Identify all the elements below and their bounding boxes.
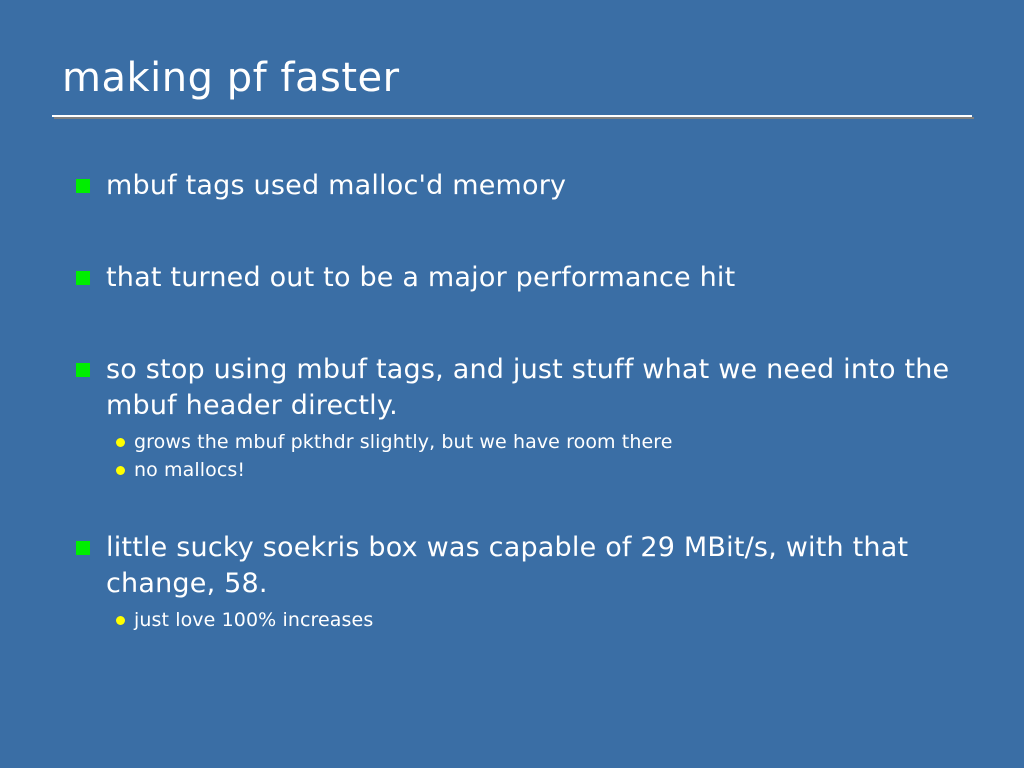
bullet-group: so stop using mbuf tags, and just stuff … (70, 352, 970, 484)
title-divider-rule (52, 115, 972, 119)
bullet-item-level1: mbuf tags used malloc'd memory (70, 168, 970, 204)
sub-bullet-text: just love 100% increases (134, 609, 373, 631)
bullet-item-level2: grows the mbuf pkthdr slightly, but we h… (114, 428, 970, 456)
bullet-item-level1: so stop using mbuf tags, and just stuff … (70, 352, 970, 424)
bullet-item-level2: no mallocs! (114, 456, 970, 484)
sub-bullet-text: no mallocs! (134, 459, 245, 481)
slide-title-block: making pf faster (52, 52, 972, 104)
bullet-text: that turned out to be a major performanc… (106, 262, 735, 293)
bullet-text: little sucky soekris box was capable of … (106, 532, 908, 599)
sub-bullet-list: just love 100% increases (70, 606, 970, 634)
green-square-bullet-icon (76, 271, 90, 285)
bullet-item-level1: that turned out to be a major performanc… (70, 260, 970, 296)
presentation-slide: making pf faster mbuf tags used malloc'd… (0, 0, 1024, 768)
bullet-text: mbuf tags used malloc'd memory (106, 170, 566, 201)
yellow-dot-bullet-icon (116, 466, 125, 475)
green-square-bullet-icon (76, 541, 90, 555)
title-divider-shadow (54, 117, 974, 119)
bullet-group: that turned out to be a major performanc… (70, 260, 970, 296)
yellow-dot-bullet-icon (116, 438, 125, 447)
sub-bullet-text: grows the mbuf pkthdr slightly, but we h… (134, 431, 673, 453)
green-square-bullet-icon (76, 363, 90, 377)
slide-body: mbuf tags used malloc'd memory that turn… (70, 168, 970, 634)
bullet-item-level1: little sucky soekris box was capable of … (70, 530, 970, 602)
bullet-group: mbuf tags used malloc'd memory (70, 168, 970, 204)
green-square-bullet-icon (76, 179, 90, 193)
slide-title: making pf faster (52, 52, 972, 104)
bullet-group: little sucky soekris box was capable of … (70, 530, 970, 634)
yellow-dot-bullet-icon (116, 616, 125, 625)
bullet-text: so stop using mbuf tags, and just stuff … (106, 354, 949, 421)
sub-bullet-list: grows the mbuf pkthdr slightly, but we h… (70, 428, 970, 484)
bullet-item-level2: just love 100% increases (114, 606, 970, 634)
